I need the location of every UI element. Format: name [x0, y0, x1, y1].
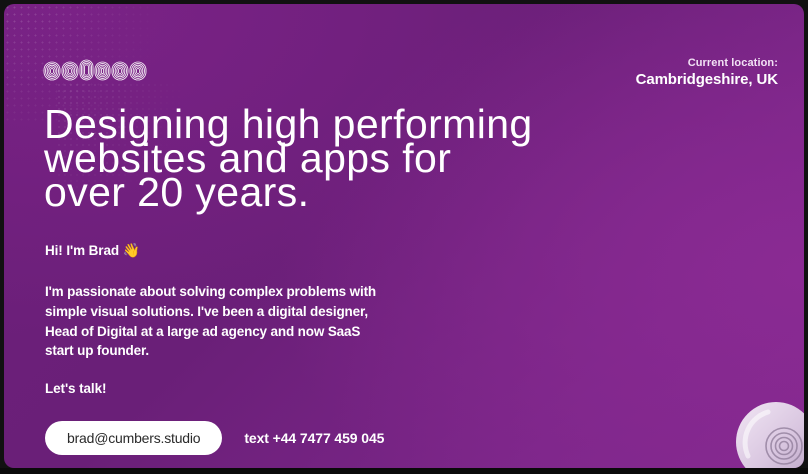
- spiral-orb-icon: [734, 400, 804, 468]
- cumbers-wordmark-logo[interactable]: [42, 56, 154, 86]
- current-location-label: Current location:: [636, 56, 778, 70]
- current-location-block: Current location: Cambridgeshire, UK: [636, 56, 778, 89]
- page-canvas: Current location: Cambridgeshire, UK Des…: [4, 4, 804, 468]
- greeting-line: Hi! I'm Brad 👋: [45, 242, 140, 259]
- phone-text-label[interactable]: text +44 7477 459 045: [244, 430, 384, 446]
- lets-talk-heading: Let's talk!: [45, 381, 106, 396]
- waving-hand-icon: 👋: [123, 242, 140, 258]
- page-title: Designing high performing websites and a…: [44, 107, 664, 209]
- logo-icon: [42, 56, 154, 86]
- browser-viewport: Current location: Cambridgeshire, UK Des…: [0, 0, 808, 474]
- bio-paragraph: I'm passionate about solving complex pro…: [45, 282, 425, 361]
- contact-cta-row: brad@cumbers.studio text +44 7477 459 04…: [45, 421, 384, 455]
- email-button[interactable]: brad@cumbers.studio: [45, 421, 222, 455]
- window-bottom-edge: [0, 468, 808, 474]
- current-location-value: Cambridgeshire, UK: [636, 70, 778, 89]
- greeting-text: Hi! I'm Brad: [45, 243, 119, 258]
- spiral-orb-graphic: [734, 400, 804, 468]
